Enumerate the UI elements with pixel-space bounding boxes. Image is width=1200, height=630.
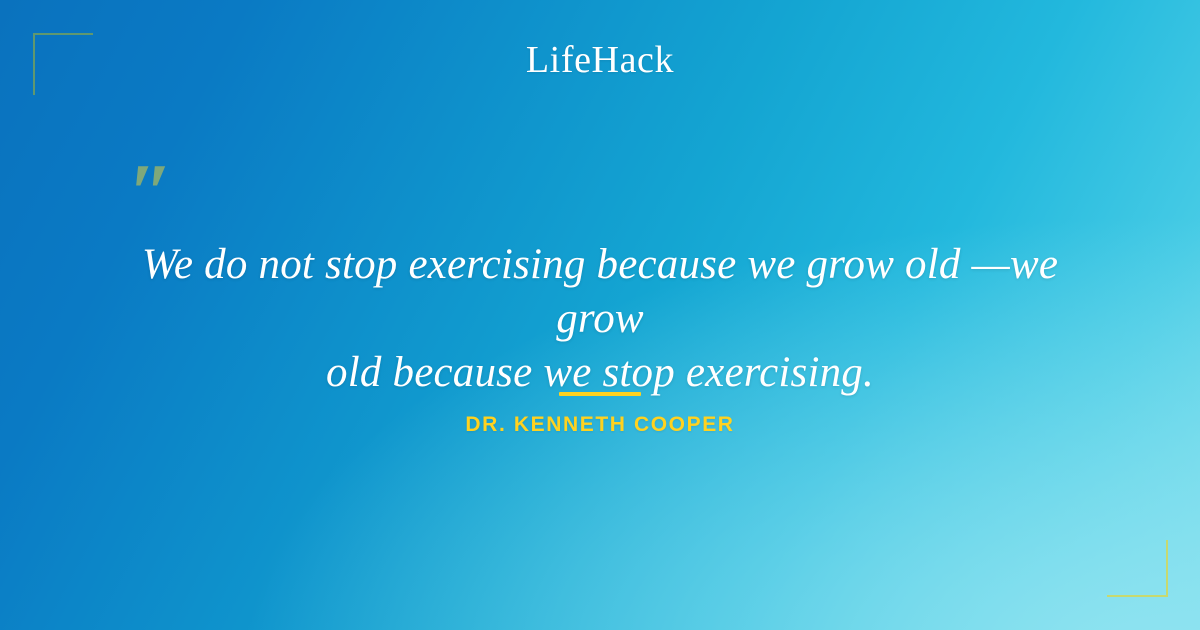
quotation-mark-icon: ″	[128, 152, 173, 234]
corner-bracket-bottom-right-icon	[1107, 540, 1168, 597]
quote-card: LifeHack ″ We do not stop exercising bec…	[0, 0, 1200, 630]
divider-rule	[559, 392, 641, 396]
quote-block: We do not stop exercising because we gro…	[100, 238, 1100, 400]
quote-line-1: We do not stop exercising because we gro…	[100, 238, 1100, 346]
brand-logo: LifeHack	[0, 38, 1200, 82]
quote-attribution: DR. KENNETH COOPER	[0, 413, 1200, 437]
divider-wrapper	[0, 383, 1200, 401]
